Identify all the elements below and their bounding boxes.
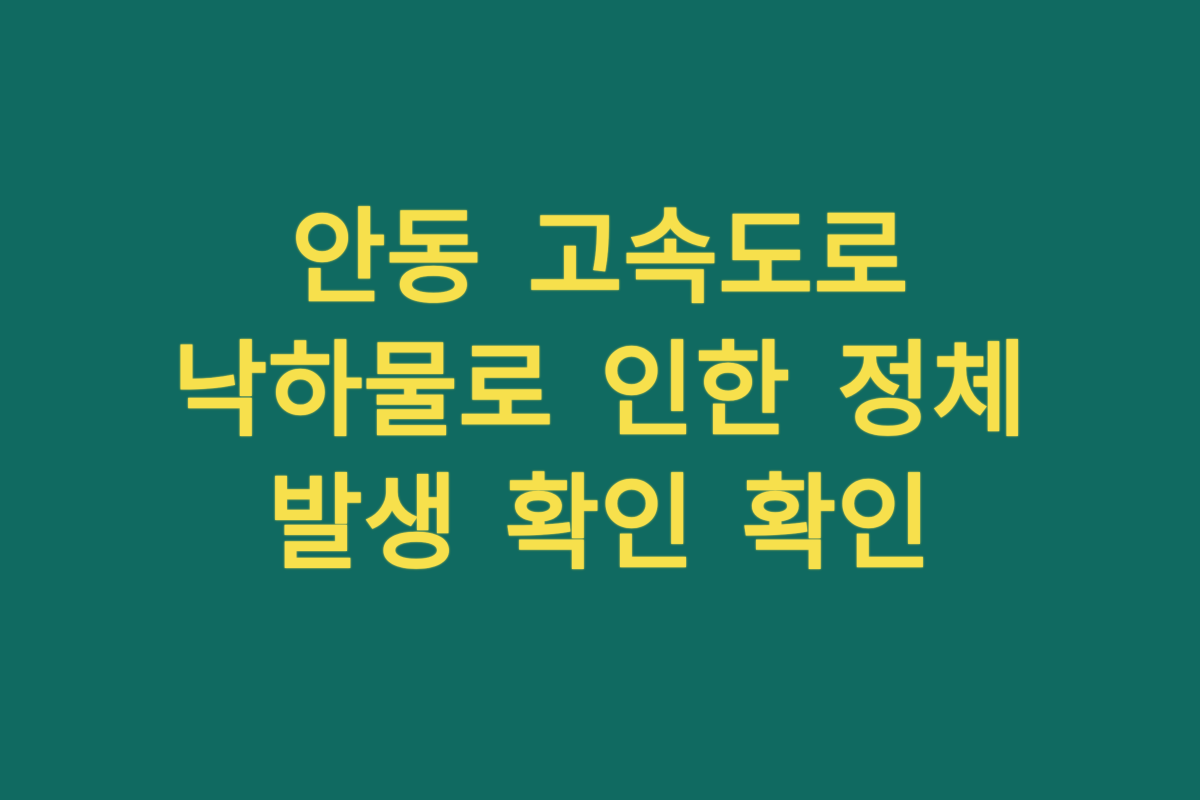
banner-canvas: 안동 고속도로 낙하물로 인한 정체 발생 확인 확인 xyxy=(0,0,1200,800)
headline-block: 안동 고속도로 낙하물로 인한 정체 발생 확인 확인 xyxy=(78,192,1122,591)
banner-headline: 안동 고속도로 낙하물로 인한 정체 발생 확인 확인 xyxy=(78,192,1122,591)
